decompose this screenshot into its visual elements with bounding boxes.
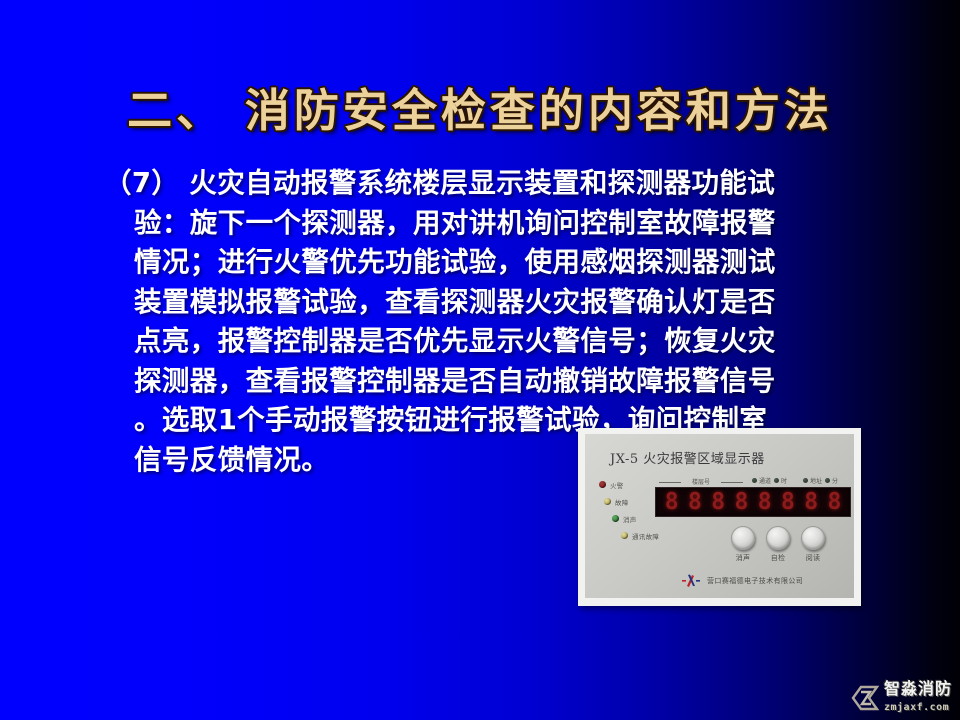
body-line: 装置模拟报警试验，查看探测器火灾报警确认灯是否: [104, 283, 894, 323]
manufacturer-logo-icon: [681, 574, 701, 588]
minute-label: 分: [832, 476, 838, 485]
display-digit: 8: [665, 491, 679, 514]
channel-label: 通道: [759, 476, 771, 485]
slide-canvas: 二、 消防安全检查的内容和方法 （7） 火灾自动报警系统楼层显示装置和探测器功能…: [0, 0, 960, 720]
indicator-label: 火警: [610, 480, 624, 490]
silence-button[interactable]: 消声: [731, 526, 755, 563]
display-digit: 8: [688, 491, 702, 514]
channel-caption: 通道 时: [752, 476, 787, 485]
minute-led-icon: [825, 478, 830, 483]
address-label: 地址: [810, 476, 822, 485]
comm-fault-led-icon: [621, 532, 628, 539]
display-digit: 8: [758, 491, 772, 514]
device-model-title: JX-5 火灾报警区域显示器: [610, 448, 765, 467]
self-test-button-cap[interactable]: [766, 526, 790, 550]
body-line: 点亮，报警控制器是否优先显示火警信号；恢复火灾: [104, 322, 894, 362]
page-title: 二、 消防安全检查的内容和方法: [0, 84, 960, 138]
indicator-label: 通讯故障: [632, 531, 659, 541]
display-digit: 8: [827, 491, 841, 514]
body-line: 情况；进行火警优先功能试验，使用感烟探测器测试: [104, 243, 894, 283]
display-digit: 8: [734, 491, 748, 514]
watermark-url: zmjaxf.com: [884, 702, 949, 713]
manufacturer-name: 营口赛福德电子技术有限公司: [707, 576, 803, 586]
body-line: 验：旋下一个探测器，用对讲机询问控制室故障报警: [104, 204, 894, 244]
silence-button-label: 消声: [731, 553, 755, 563]
seven-segment-display: 8 8 8 8 8 8 8 8: [655, 487, 851, 517]
device-manufacturer-footer: 营口赛福德电子技术有限公司: [681, 574, 803, 588]
device-photo: JX-5 火灾报警区域显示器 火警 故障 消声 通讯故障: [578, 428, 861, 606]
site-watermark: 智淼消防 zmjaxf.com: [850, 681, 952, 714]
floor-number-caption: 楼层号: [657, 477, 745, 486]
indicator-row-comm-fault: 通讯故障: [621, 529, 659, 542]
indicator-led-list: 火警 故障 消声 通讯故障: [599, 478, 659, 546]
channel-led-icon: [752, 478, 757, 483]
fire-alarm-led-icon: [599, 481, 606, 488]
address-led-icon: [803, 478, 808, 483]
address-caption: 地址 分: [803, 476, 838, 485]
hour-led-icon: [774, 478, 779, 483]
indicator-row-fire: 火警: [599, 478, 659, 491]
watermark-name: 智淼消防: [884, 679, 952, 698]
self-test-button-label: 自检: [766, 553, 790, 563]
read-button[interactable]: 阅读: [801, 526, 825, 563]
body-line: （7） 火灾自动报警系统楼层显示装置和探测器功能试: [104, 164, 894, 204]
device-button-row: 消声 自检 阅读: [731, 526, 825, 563]
watermark-logo-icon: [850, 683, 880, 713]
indicator-row-fault: 故障: [604, 495, 659, 508]
fire-alarm-zone-display-panel: JX-5 火灾报警区域显示器 火警 故障 消声 通讯故障: [585, 434, 854, 598]
body-line: 探测器，查看报警控制器是否自动撤销故障报警信号: [104, 362, 894, 402]
display-digit: 8: [804, 491, 818, 514]
display-digit: 8: [781, 491, 795, 514]
display-header-captions: 楼层号 通道 时 地址 分: [657, 476, 849, 487]
indicator-label: 消声: [623, 514, 637, 524]
self-test-button[interactable]: 自检: [766, 526, 790, 563]
indicator-label: 故障: [615, 497, 629, 507]
silence-led-icon: [612, 515, 619, 522]
indicator-row-silence: 消声: [612, 512, 659, 525]
fault-led-icon: [604, 498, 611, 505]
read-button-cap[interactable]: [801, 526, 825, 550]
silence-button-cap[interactable]: [731, 526, 755, 550]
read-button-label: 阅读: [801, 553, 825, 563]
hour-label: 时: [781, 476, 787, 485]
display-digit: 8: [711, 491, 725, 514]
watermark-text: 智淼消防 zmjaxf.com: [884, 681, 952, 714]
